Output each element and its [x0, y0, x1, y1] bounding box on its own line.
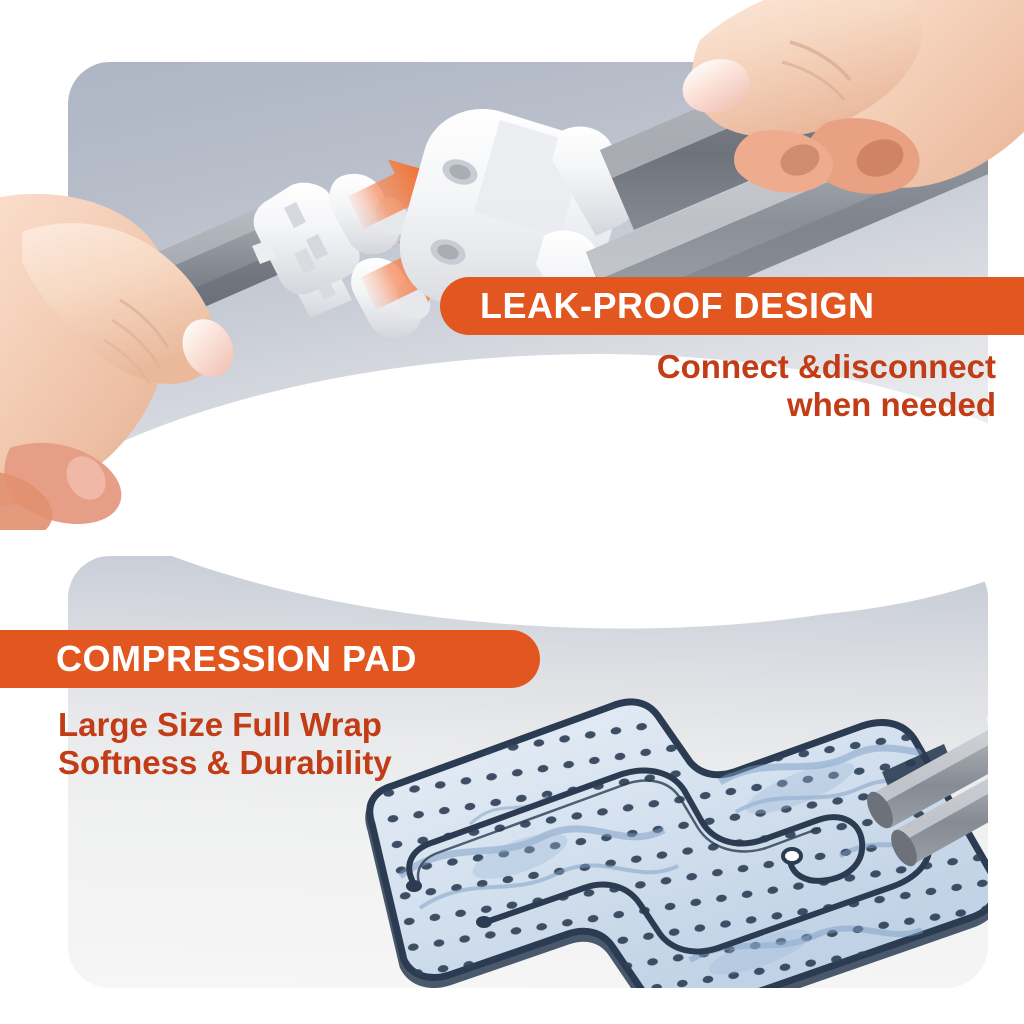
banner-leak-proof: LEAK-PROOF DESIGN	[440, 277, 1024, 335]
banner-compression-pad: COMPRESSION PAD	[0, 630, 540, 688]
pad-hose-connector	[986, 683, 1024, 806]
subtitle-leak-proof: Connect &disconnect when needed	[657, 348, 996, 425]
subtitle-compression-pad: Large Size Full Wrap Softness & Durabili…	[58, 706, 392, 783]
infographic-canvas: LEAK-PROOF DESIGN Connect &disconnect wh…	[0, 0, 1024, 1024]
